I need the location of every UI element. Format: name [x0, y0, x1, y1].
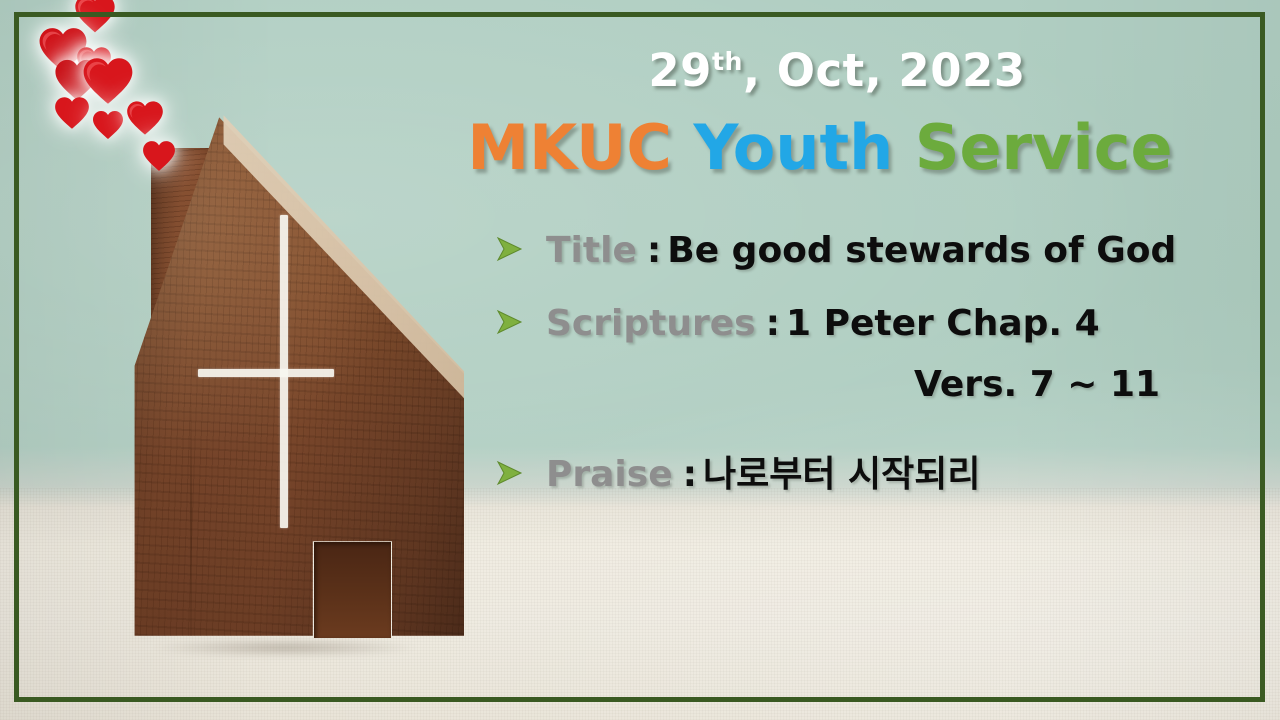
title-word-mkuc: MKUC — [467, 111, 672, 184]
bullet-value-scriptures: 1 Peter Chap. 4 — [786, 303, 1100, 344]
list-item-scriptures: Scriptures : 1 Peter Chap. 4 — [494, 303, 1260, 344]
presentation-slide: 29th, Oct, 2023 MKUC Youth Service Title… — [0, 0, 1280, 720]
floating-hearts-icon — [28, 0, 218, 175]
bullet-value-title: Be good stewards of God — [667, 230, 1176, 271]
bullet-label-praise: Praise — [546, 454, 673, 495]
wood-grain-seam — [190, 393, 192, 636]
bullet-list: Title : Be good stewards of God Scriptur… — [380, 230, 1260, 497]
green-arrowhead-icon — [494, 307, 524, 340]
door-opening-icon — [314, 542, 391, 638]
heart-icon — [54, 96, 90, 130]
green-arrowhead-icon — [494, 234, 524, 267]
bullet-separator: : — [637, 230, 667, 271]
date-day: 29 — [648, 44, 712, 97]
page-title: MKUC Youth Service — [380, 111, 1260, 184]
white-cross-crossbar-icon — [198, 369, 335, 377]
green-arrowhead-icon — [494, 458, 524, 491]
list-item-praise: Praise : 나로부터 시작되리 — [494, 445, 1260, 497]
bullet-label-scriptures: Scriptures — [546, 303, 756, 344]
date-rest: , Oct, 2023 — [743, 44, 1026, 97]
bullet-separator: : — [756, 303, 786, 344]
scriptures-verses-continuation: Vers. 7 ~ 11 — [914, 364, 1260, 405]
bullet-label-title: Title — [546, 230, 637, 271]
heart-icon — [92, 110, 124, 140]
service-date: 29th, Oct, 2023 — [414, 44, 1260, 97]
slide-text-content: 29th, Oct, 2023 MKUC Youth Service Title… — [380, 44, 1260, 529]
bullet-value-praise: 나로부터 시작되리 — [703, 445, 981, 497]
heart-icon — [126, 100, 164, 136]
date-ordinal-suffix: th — [712, 47, 743, 76]
heart-icon — [142, 140, 176, 172]
list-item-title: Title : Be good stewards of God — [494, 230, 1260, 271]
bullet-separator: : — [673, 454, 703, 495]
title-word-youth: Youth — [694, 111, 894, 184]
title-word-service: Service — [915, 111, 1173, 184]
